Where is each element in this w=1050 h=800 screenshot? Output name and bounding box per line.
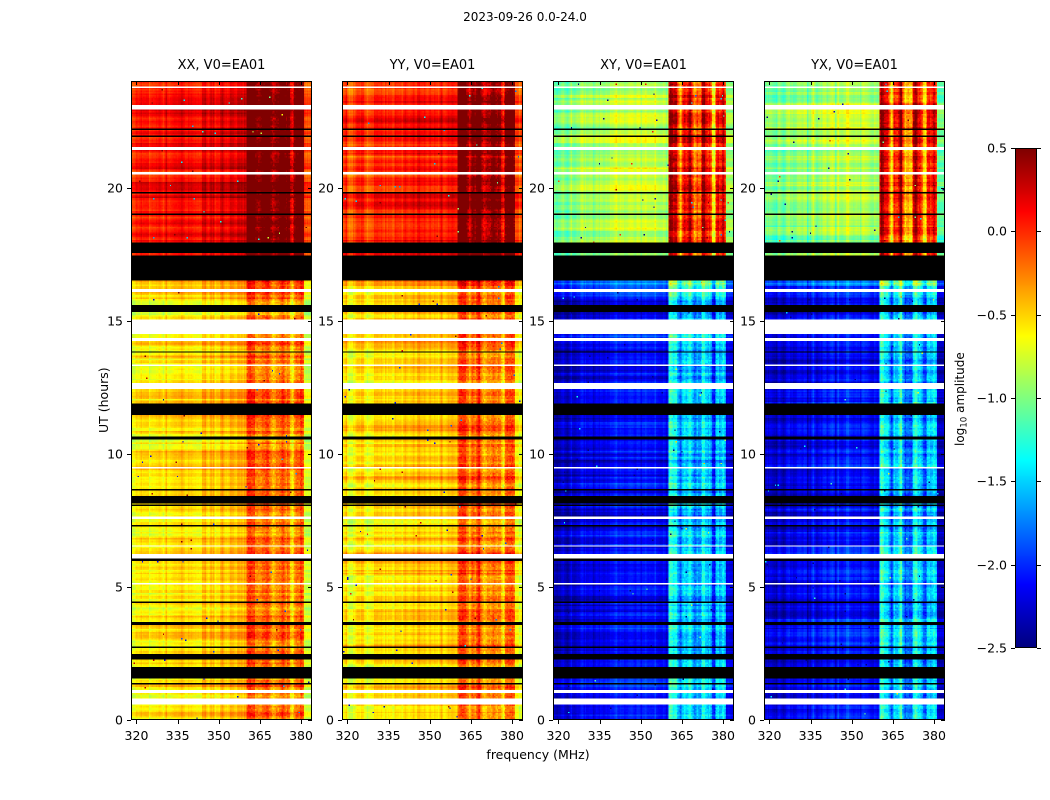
- y-tick-label: 10: [718, 446, 756, 461]
- y-tick: [338, 188, 342, 189]
- colorbar-tick: [1011, 481, 1015, 482]
- colorbar-tick-label: −1.5: [963, 474, 1007, 489]
- panel-xy: XY, V0=EA01: [553, 81, 734, 720]
- y-tick-label: 5: [85, 579, 123, 594]
- colorbar-tick: [1011, 648, 1015, 649]
- x-tick-label: 350: [418, 728, 442, 743]
- heatmap-axes-xy[interactable]: [553, 81, 734, 720]
- x-tick: [852, 720, 853, 724]
- x-tick-top: [136, 81, 137, 85]
- y-tick-right: [941, 587, 945, 588]
- x-tick: [682, 720, 683, 724]
- x-tick-top: [600, 81, 601, 85]
- y-tick-label: 0: [507, 713, 545, 728]
- y-tick-label: 10: [85, 446, 123, 461]
- y-tick: [338, 321, 342, 322]
- y-tick: [760, 454, 764, 455]
- x-tick: [260, 720, 261, 724]
- colorbar-tick-right: [1037, 148, 1041, 149]
- colorbar-tick-label: −1.0: [963, 391, 1007, 406]
- x-tick-label: 380: [289, 728, 313, 743]
- heatmap-axes-yy[interactable]: [342, 81, 523, 720]
- y-tick-label: 20: [85, 180, 123, 195]
- x-tick-label: 380: [500, 728, 524, 743]
- y-tick: [760, 188, 764, 189]
- x-tick-label: 320: [758, 728, 782, 743]
- y-tick: [760, 587, 764, 588]
- panel-yx: YX, V0=EA01: [764, 81, 945, 720]
- x-tick-top: [641, 81, 642, 85]
- waterfall-image-xy: [554, 82, 733, 719]
- y-tick: [338, 720, 342, 721]
- x-tick-top: [301, 81, 302, 85]
- y-axis-label: UT (hours): [96, 367, 111, 433]
- x-tick: [600, 720, 601, 724]
- heatmap-axes-xx[interactable]: [131, 81, 312, 720]
- y-tick-label: 15: [85, 313, 123, 328]
- y-tick-label: 15: [296, 313, 334, 328]
- y-tick-label: 0: [85, 713, 123, 728]
- x-tick-top: [260, 81, 261, 85]
- x-tick: [934, 720, 935, 724]
- x-tick: [136, 720, 137, 724]
- colorbar-tick-right: [1037, 315, 1041, 316]
- y-tick: [549, 321, 553, 322]
- x-tick: [178, 720, 179, 724]
- y-tick: [549, 720, 553, 721]
- y-tick: [127, 454, 131, 455]
- colorbar-tick-label: −0.5: [963, 307, 1007, 322]
- x-tick-label: 320: [125, 728, 149, 743]
- y-tick: [127, 720, 131, 721]
- y-tick-label: 0: [718, 713, 756, 728]
- heatmap-axes-yx[interactable]: [764, 81, 945, 720]
- colorbar-gradient: [1016, 149, 1036, 647]
- waterfall-image-xx: [132, 82, 311, 719]
- x-tick: [389, 720, 390, 724]
- y-tick-right: [941, 454, 945, 455]
- x-tick-label: 380: [711, 728, 735, 743]
- x-tick-label: 335: [166, 728, 190, 743]
- panel-title-xx: XX, V0=EA01: [131, 58, 312, 73]
- panel-xx: XX, V0=EA01: [131, 81, 312, 720]
- y-tick: [549, 454, 553, 455]
- y-tick: [127, 188, 131, 189]
- x-axis-label: frequency (MHz): [486, 747, 589, 762]
- colorbar-tick-right: [1037, 481, 1041, 482]
- colorbar-tick-right: [1037, 648, 1041, 649]
- y-tick: [338, 587, 342, 588]
- y-tick: [760, 321, 764, 322]
- x-tick: [347, 720, 348, 724]
- y-tick-label: 5: [507, 579, 545, 594]
- x-tick-top: [811, 81, 812, 85]
- x-tick-top: [512, 81, 513, 85]
- x-tick-label: 365: [881, 728, 905, 743]
- x-tick-label: 335: [377, 728, 401, 743]
- y-tick: [127, 587, 131, 588]
- x-tick-label: 365: [670, 728, 694, 743]
- x-tick: [893, 720, 894, 724]
- y-tick: [127, 321, 131, 322]
- x-tick: [219, 720, 220, 724]
- colorbar[interactable]: [1015, 148, 1037, 648]
- x-tick-top: [769, 81, 770, 85]
- panel-title-yy: YY, V0=EA01: [342, 58, 523, 73]
- x-tick-label: 350: [207, 728, 231, 743]
- y-tick: [549, 587, 553, 588]
- x-tick-top: [219, 81, 220, 85]
- y-tick: [549, 188, 553, 189]
- y-tick-label: 5: [718, 579, 756, 594]
- colorbar-tick-label: 0.5: [963, 141, 1007, 156]
- x-tick: [769, 720, 770, 724]
- panel-title-yx: YX, V0=EA01: [764, 58, 945, 73]
- x-tick-top: [347, 81, 348, 85]
- y-tick-right: [941, 188, 945, 189]
- x-tick-top: [893, 81, 894, 85]
- colorbar-tick: [1011, 148, 1015, 149]
- figure-suptitle: 2023-09-26 0.0-24.0: [0, 10, 1050, 24]
- x-tick-label: 335: [588, 728, 612, 743]
- colorbar-label: log10 amplitude: [953, 352, 969, 446]
- x-tick-top: [389, 81, 390, 85]
- x-tick-label: 350: [629, 728, 653, 743]
- y-tick-label: 15: [507, 313, 545, 328]
- x-tick-top: [430, 81, 431, 85]
- colorbar-tick-right: [1037, 231, 1041, 232]
- colorbar-tick: [1011, 565, 1015, 566]
- x-tick-top: [852, 81, 853, 85]
- panel-title-xy: XY, V0=EA01: [553, 58, 734, 73]
- y-tick: [760, 720, 764, 721]
- x-tick-top: [934, 81, 935, 85]
- y-tick-label: 20: [296, 180, 334, 195]
- x-tick-label: 335: [799, 728, 823, 743]
- x-tick-top: [682, 81, 683, 85]
- y-tick-label: 10: [296, 446, 334, 461]
- x-tick-label: 320: [547, 728, 571, 743]
- y-tick-label: 10: [507, 446, 545, 461]
- x-tick-label: 350: [840, 728, 864, 743]
- y-tick-label: 20: [718, 180, 756, 195]
- x-tick-label: 365: [459, 728, 483, 743]
- x-tick-top: [558, 81, 559, 85]
- colorbar-tick: [1011, 398, 1015, 399]
- x-tick-top: [723, 81, 724, 85]
- x-tick: [430, 720, 431, 724]
- colorbar-tick-label: 0.0: [963, 224, 1007, 239]
- x-tick: [471, 720, 472, 724]
- x-tick-label: 320: [336, 728, 360, 743]
- colorbar-tick-right: [1037, 398, 1041, 399]
- colorbar-tick-right: [1037, 565, 1041, 566]
- x-tick-label: 365: [248, 728, 272, 743]
- waterfall-image-yy: [343, 82, 522, 719]
- y-tick-label: 15: [718, 313, 756, 328]
- colorbar-tick: [1011, 315, 1015, 316]
- y-tick-right: [941, 720, 945, 721]
- waterfall-image-yx: [765, 82, 944, 719]
- colorbar-tick: [1011, 231, 1015, 232]
- y-tick-label: 20: [507, 180, 545, 195]
- panel-yy: YY, V0=EA01: [342, 81, 523, 720]
- x-tick-label: 380: [922, 728, 946, 743]
- y-tick: [338, 454, 342, 455]
- colorbar-tick-label: −2.5: [963, 641, 1007, 656]
- x-tick-top: [178, 81, 179, 85]
- y-tick-label: 5: [296, 579, 334, 594]
- y-tick-right: [941, 321, 945, 322]
- x-tick: [811, 720, 812, 724]
- y-tick-label: 0: [296, 713, 334, 728]
- x-tick: [641, 720, 642, 724]
- x-tick: [558, 720, 559, 724]
- x-tick-top: [471, 81, 472, 85]
- figure-canvas: 2023-09-26 0.0-24.0 XX, V0=EA01YY, V0=EA…: [0, 0, 1050, 800]
- colorbar-tick-label: −2.0: [963, 557, 1007, 572]
